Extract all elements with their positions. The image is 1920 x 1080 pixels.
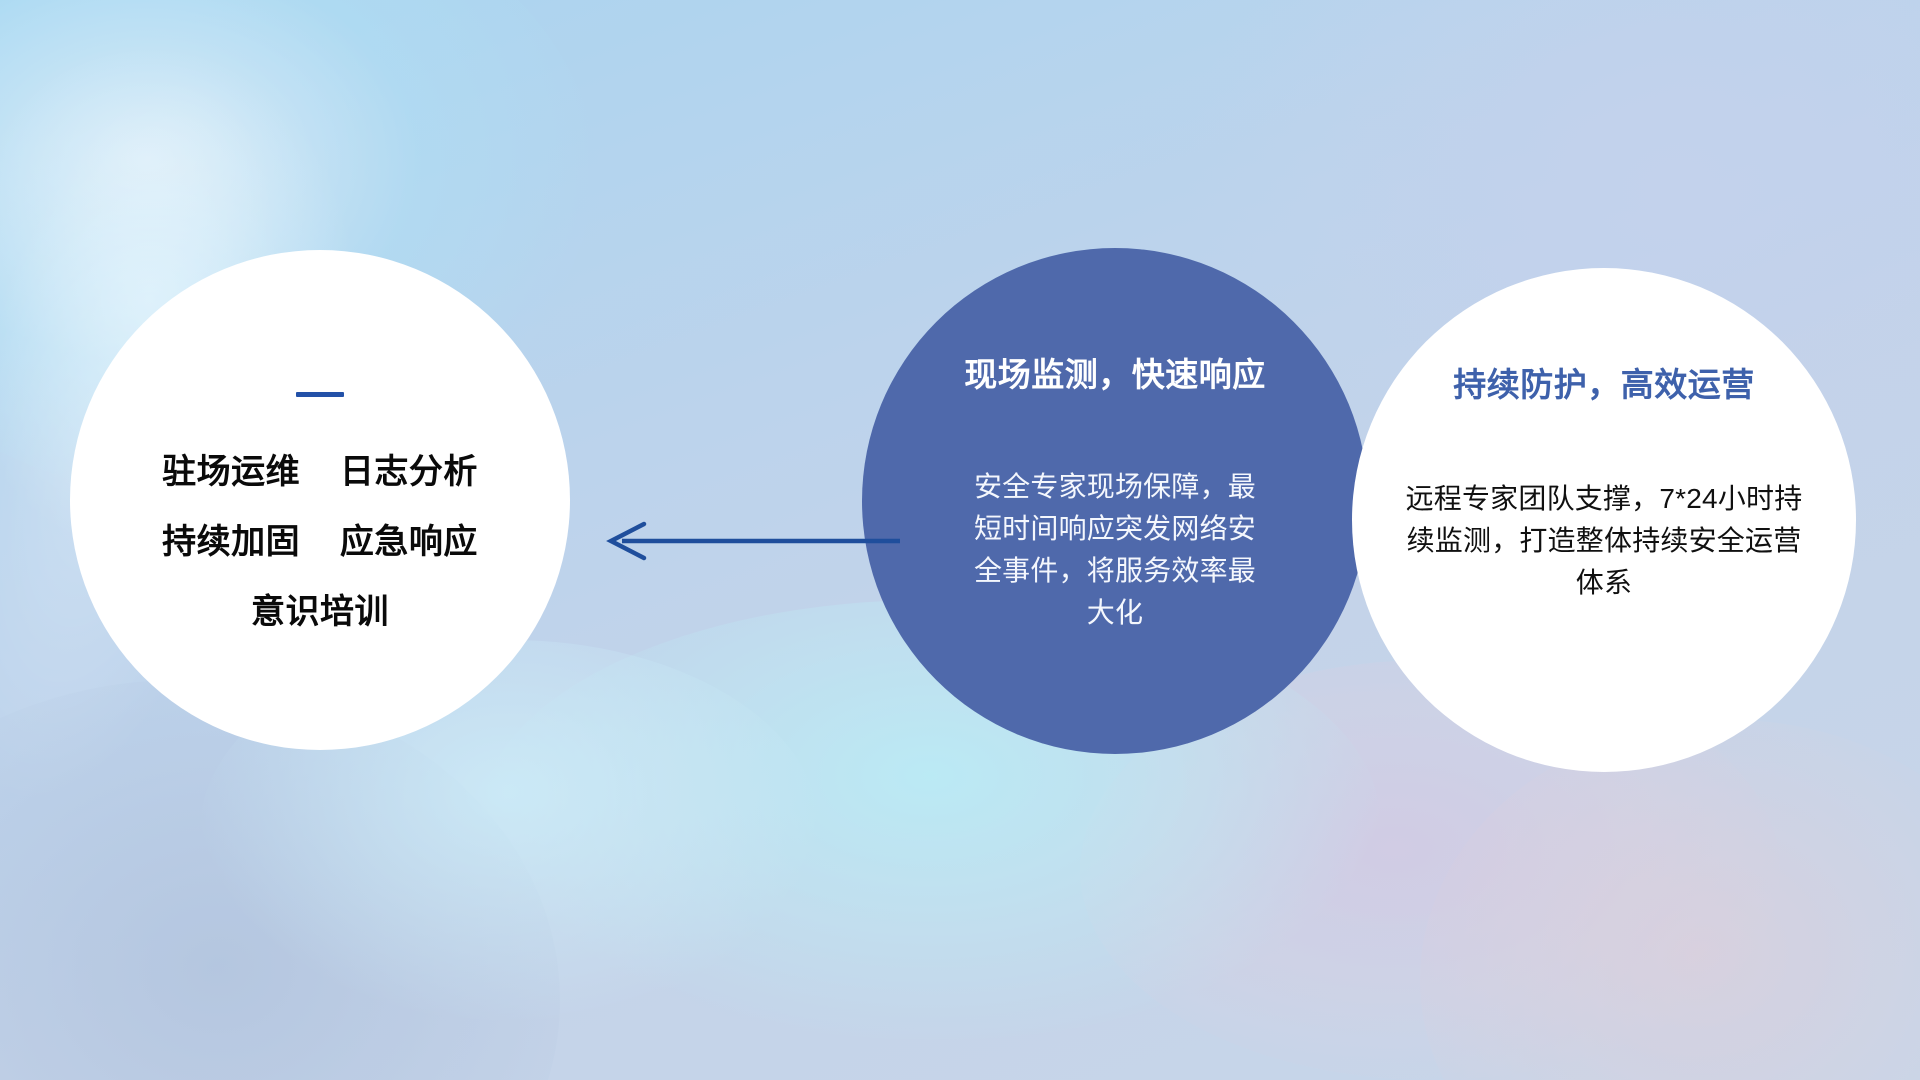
continuous-protection-circle[interactable]: 持续防护，高效运营 远程专家团队支撑，7*24小时持续监测，打造整体持续安全运营…	[1352, 268, 1856, 772]
background-blob-bottom-right	[1420, 720, 1920, 1080]
left-service-circle[interactable]: 驻场运维 日志分析 持续加固 应急响应 意识培训	[70, 250, 570, 750]
left-text-line-1: 驻场运维 日志分析	[162, 455, 478, 489]
middle-circle-content: 现场监测，快速响应 安全专家现场保障，最短时间响应突发网络安全事件，将服务效率最…	[862, 248, 1368, 754]
onsite-monitoring-circle[interactable]: 现场监测，快速响应 安全专家现场保障，最短时间响应突发网络安全事件，将服务效率最…	[862, 248, 1368, 754]
left-text-line-3: 意识培训	[251, 595, 389, 629]
slide-canvas: 驻场运维 日志分析 持续加固 应急响应 意识培训 现场监测，快速响应 安全专家现…	[0, 0, 1920, 1080]
middle-circle-title: 现场监测，快速响应	[964, 348, 1266, 396]
middle-circle-body: 安全专家现场保障，最短时间响应突发网络安全事件，将服务效率最大化	[970, 466, 1260, 634]
arrow-connector	[600, 512, 900, 570]
arrow-left-icon	[600, 512, 900, 570]
right-circle-body: 远程专家团队支撑，7*24小时持续监测，打造整体持续安全运营体系	[1394, 478, 1814, 604]
left-text-line-2: 持续加固 应急响应	[162, 525, 478, 559]
right-circle-content: 持续防护，高效运营 远程专家团队支撑，7*24小时持续监测，打造整体持续安全运营…	[1352, 268, 1856, 772]
left-circle-content: 驻场运维 日志分析 持续加固 应急响应 意识培训	[70, 250, 570, 750]
left-divider-dash	[296, 392, 344, 397]
right-circle-title: 持续防护，高效运营	[1453, 358, 1755, 406]
